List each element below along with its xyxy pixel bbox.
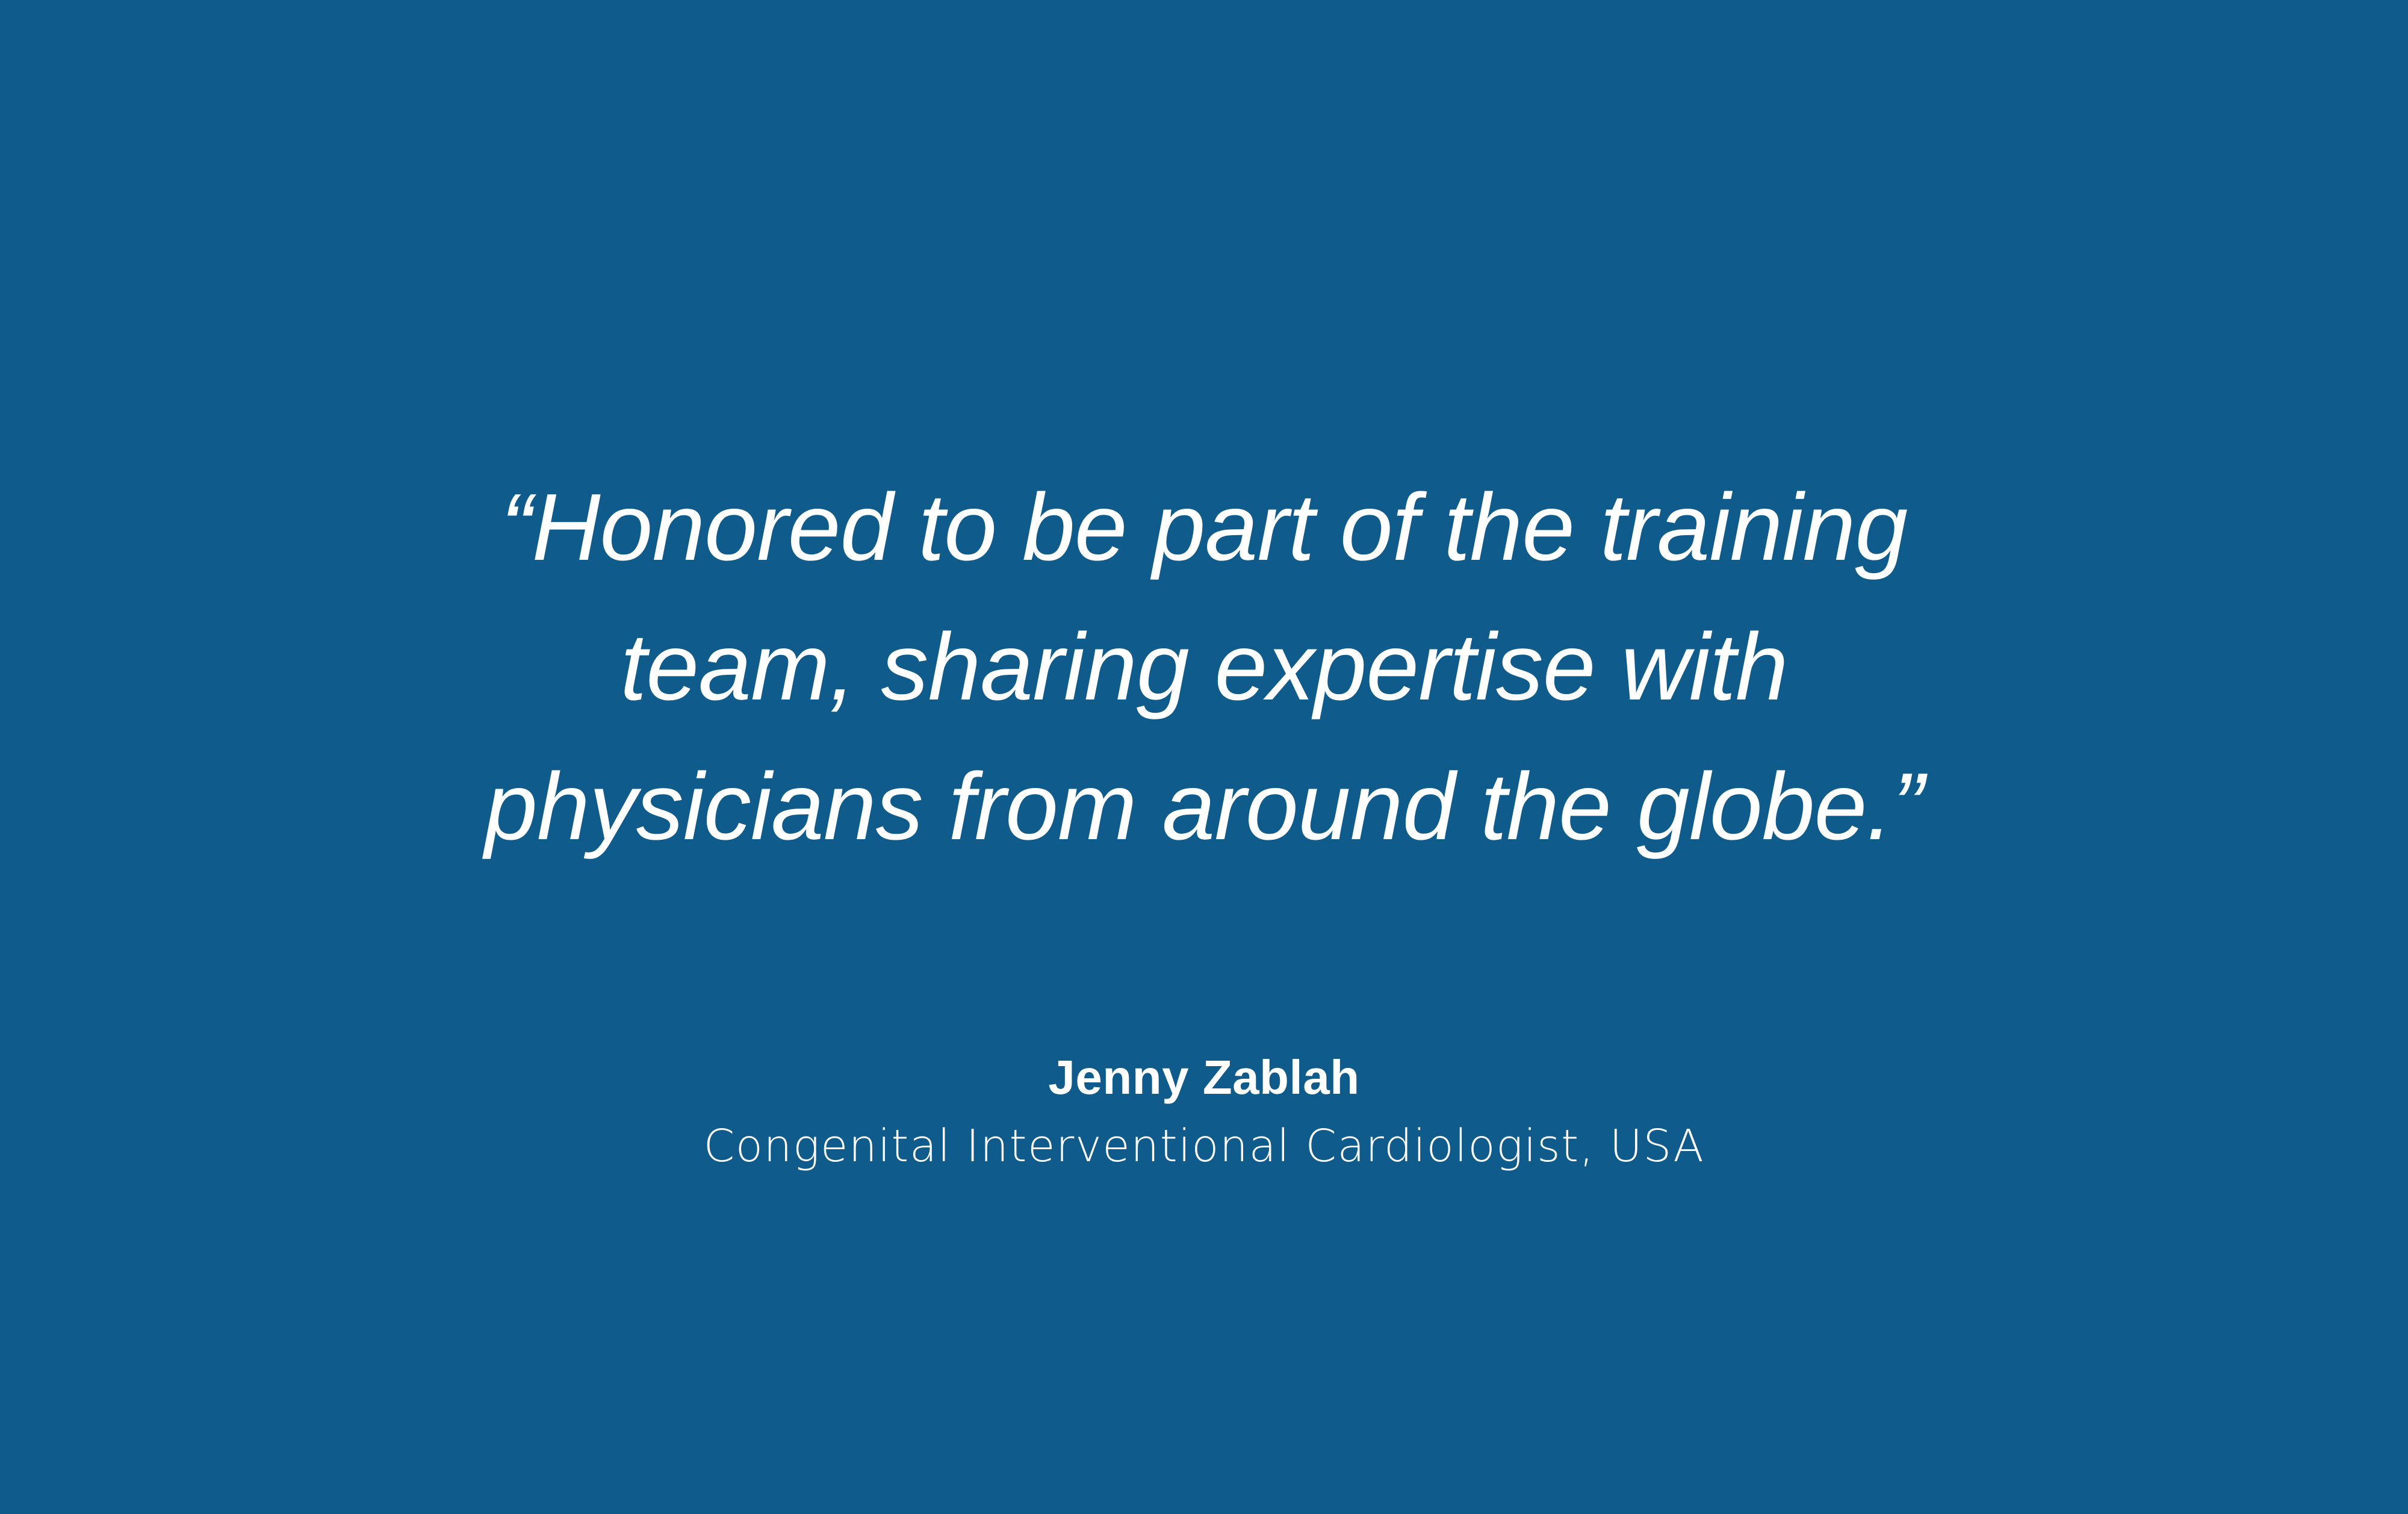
attribution-role: Congenital Interventional Cardiologist, …: [704, 1116, 1705, 1176]
quote-block: “Honored to be part of the training team…: [0, 458, 2408, 876]
attribution-name: Jenny Zablah: [1048, 1046, 1359, 1109]
quote-line-3: physicians from around the globe.”: [485, 737, 1923, 876]
quote-line-1: “Honored to be part of the training: [501, 458, 1907, 597]
quote-line-2: team, sharing expertise with: [620, 597, 1787, 737]
attribution-block: Jenny Zablah Congenital Interventional C…: [0, 1046, 2408, 1176]
testimonial-slide: “Honored to be part of the training team…: [0, 0, 2408, 1514]
